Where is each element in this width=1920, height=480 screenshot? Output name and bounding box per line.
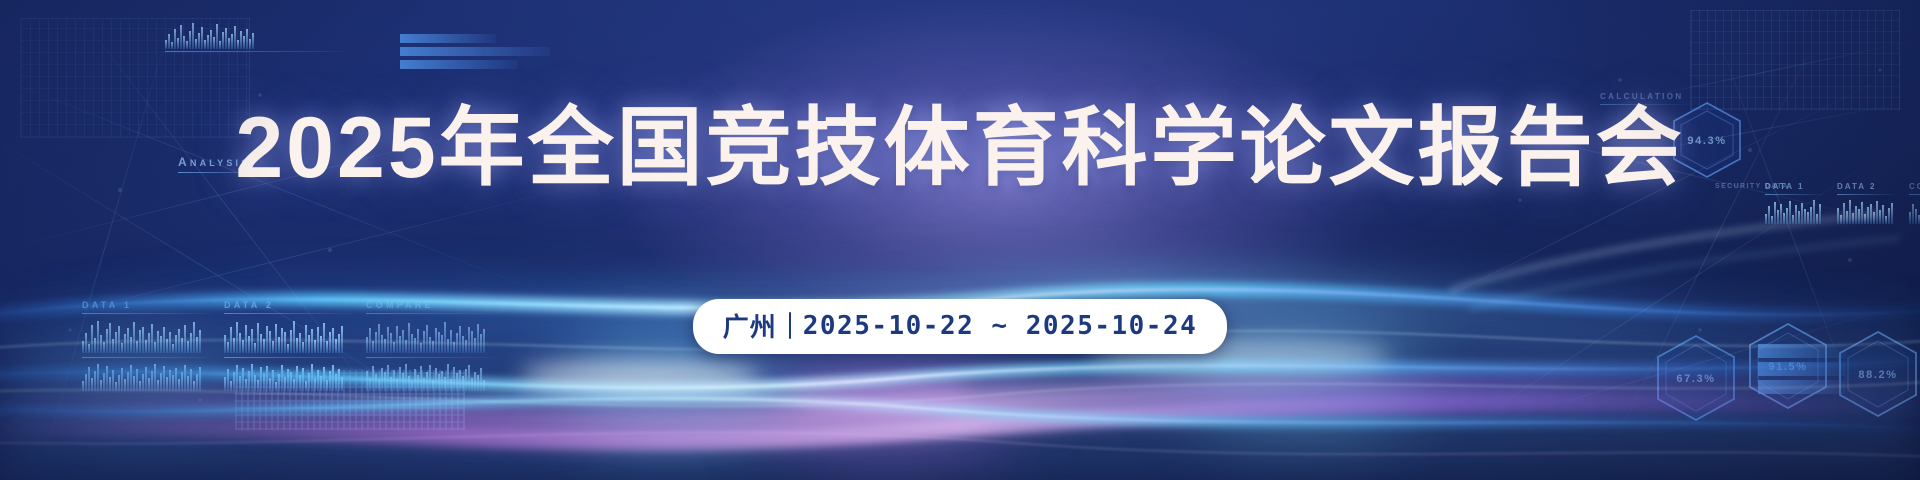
event-city: 广州 <box>723 307 777 344</box>
conference-banner: AANALYSISNALYSIS DATA 1 <box>0 0 1920 480</box>
event-info-row: 广州 2025-10-22 ~ 2025-10-24 <box>0 299 1920 354</box>
badge-divider <box>789 312 791 339</box>
page-title: 2025年全国竞技体育科学论文报告会 <box>0 100 1920 196</box>
banner-content: 2025年全国竞技体育科学论文报告会 广州 2025-10-22 ~ 2025-… <box>0 0 1920 480</box>
event-info-badge: 广州 2025-10-22 ~ 2025-10-24 <box>693 299 1228 354</box>
event-dates: 2025-10-22 ~ 2025-10-24 <box>803 311 1198 341</box>
